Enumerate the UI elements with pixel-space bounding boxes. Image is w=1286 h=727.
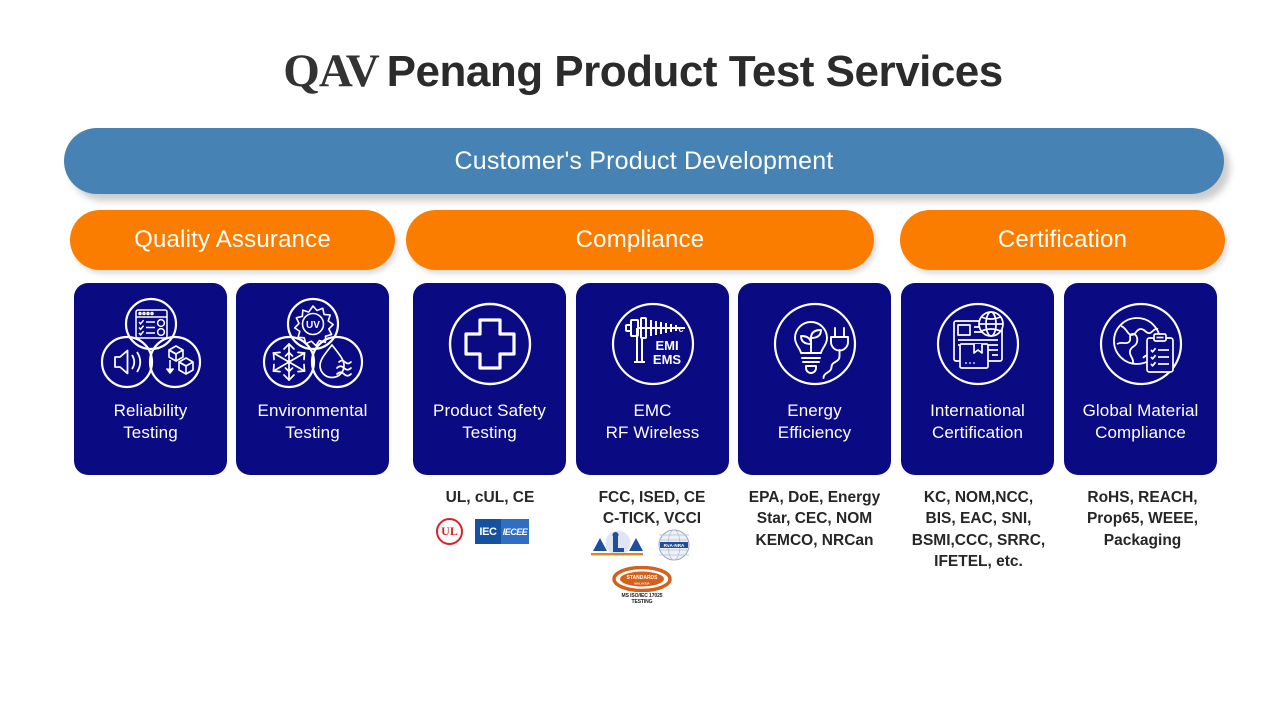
safety-plus-icon (430, 296, 550, 396)
iec-logo-text: IEC (475, 519, 501, 544)
category-label: Compliance (576, 226, 705, 254)
brand-logo-text: QAV (283, 45, 378, 97)
service-card-global-material-compliance[interactable]: Global Material Compliance (1064, 283, 1217, 475)
standards-malaysia-text: STANDARDS (626, 575, 658, 581)
service-card-label: Reliability Testing (114, 400, 188, 445)
caption-emc-rf-wireless: FCC, ISED, CE C-TICK, VCCI (566, 487, 738, 530)
caption-global-material-compliance: RoHS, REACH, Prop65, WEEE, Packaging (1060, 487, 1225, 551)
iecee-logo-text: IECEE (501, 519, 529, 544)
slide-canvas: QAVPenang Product Test Services Customer… (0, 0, 1286, 727)
uv-label: UV (306, 320, 320, 331)
service-card-label: Global Material Compliance (1083, 400, 1199, 445)
category-label: Certification (998, 226, 1127, 254)
environmental-uv-snowflake-humidity-icon: UV (253, 296, 373, 396)
category-bar-quality-assurance[interactable]: Quality Assurance (70, 210, 395, 270)
global-globe-clipboard-icon (1081, 296, 1201, 396)
category-label: Quality Assurance (134, 226, 331, 254)
page-title: QAVPenang Product Test Services (0, 44, 1286, 98)
service-card-product-safety-testing[interactable]: Product Safety Testing (413, 283, 566, 475)
a2la-logo (589, 530, 647, 560)
emc-accreditation-logos: RvA-NRA (589, 528, 691, 562)
service-card-label: EMC RF Wireless (606, 400, 700, 445)
page-title-text: Penang Product Test Services (387, 47, 1003, 96)
caption-energy-efficiency: EPA, DoE, Energy Star, CEC, NOM KEMCO, N… (732, 487, 897, 551)
caption-international-certification: KC, NOM,NCC, BIS, EAC, SNI, BSMI,CCC, SR… (896, 487, 1061, 573)
caption-product-safety: UL, cUL, CE (405, 487, 575, 508)
standards-malaysia-logo-group: STANDARDS MALAYSIA MS ISO/IEC 17025 TEST… (612, 566, 672, 606)
service-card-energy-efficiency[interactable]: Energy Efficiency (738, 283, 891, 475)
rva-logo-text: RvA-NRA (664, 543, 685, 548)
service-card-reliability-testing[interactable]: Reliability Testing (74, 283, 227, 475)
svg-text:MALAYSIA: MALAYSIA (634, 582, 650, 586)
service-card-label: Energy Efficiency (778, 400, 851, 445)
iecee-logo: IEC IECEE (475, 519, 529, 544)
service-card-label: International Certification (930, 400, 1025, 445)
svg-text:c: c (678, 324, 683, 334)
standards-malaysia-subtext: MS ISO/IEC 17025 TESTING (622, 593, 663, 606)
ems-label: EMS (652, 352, 681, 367)
reliability-checklist-speaker-drop-icon (91, 296, 211, 396)
energy-eco-bulb-plug-icon (755, 296, 875, 396)
ul-logo: UL (436, 518, 463, 545)
category-bar-compliance[interactable]: Compliance (406, 210, 874, 270)
emc-antenna-icon: c EMI EMS (593, 296, 713, 396)
standards-malaysia-logo: STANDARDS MALAYSIA (612, 566, 672, 592)
international-globe-document-icon (918, 296, 1038, 396)
rva-accreditation-logo: RvA-NRA (657, 528, 691, 562)
emi-label: EMI (655, 338, 678, 353)
service-card-emc-rf-wireless[interactable]: c EMI EMS EMC RF Wireless (576, 283, 729, 475)
service-card-international-certification[interactable]: International Certification (901, 283, 1054, 475)
service-card-label: Product Safety Testing (433, 400, 546, 445)
service-card-label: Environmental Testing (258, 400, 368, 445)
safety-accreditation-logos: UL IEC IECEE (436, 518, 529, 545)
customer-product-development-bar[interactable]: Customer's Product Development (64, 128, 1224, 194)
customer-bar-label: Customer's Product Development (455, 147, 834, 176)
service-card-environmental-testing[interactable]: UV Environment (236, 283, 389, 475)
category-bar-certification[interactable]: Certification (900, 210, 1225, 270)
